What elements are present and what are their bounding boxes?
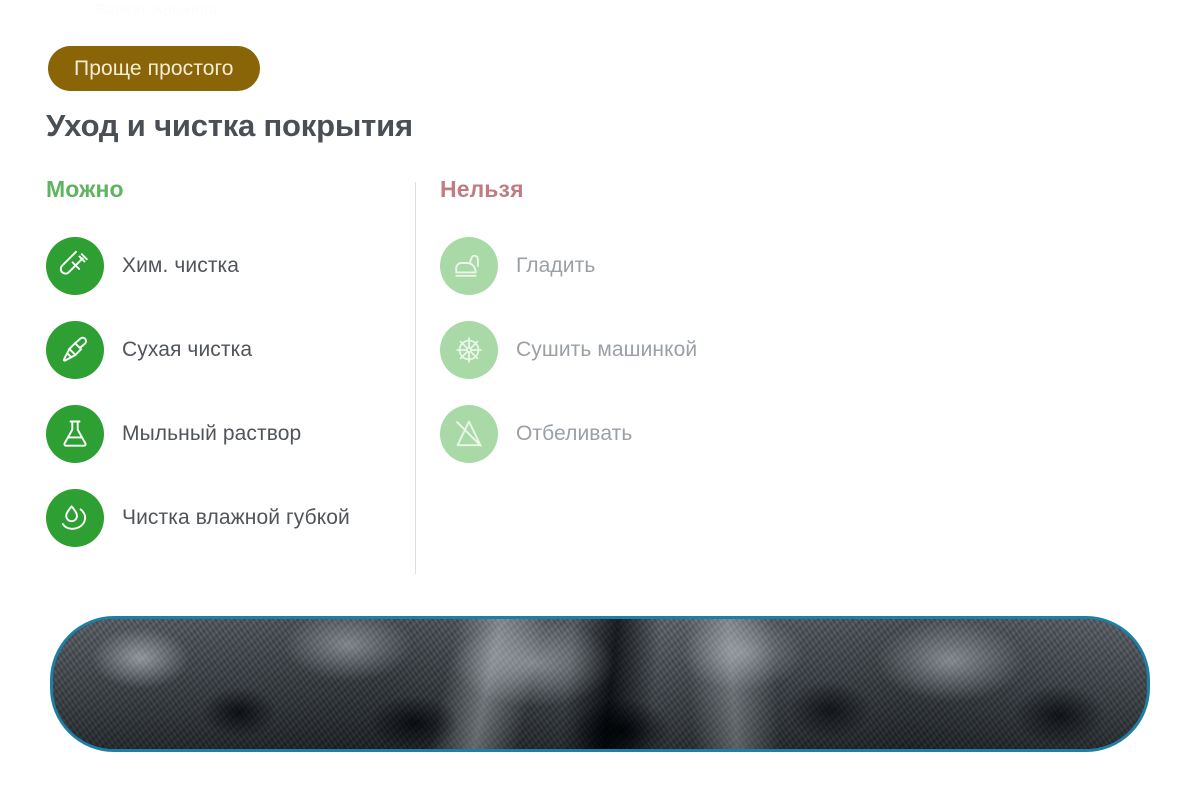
no-bleach-icon: [440, 405, 498, 463]
water-drop-icon: [46, 489, 104, 547]
tumble-dry-icon: [440, 321, 498, 379]
column-divider: [415, 182, 416, 574]
list-item[interactable]: Сушить машинкой: [440, 321, 960, 379]
allowed-list: Хим. чистка Сухая чистка: [46, 237, 406, 547]
list-item-label: Сухая чистка: [122, 336, 252, 364]
list-item[interactable]: Мыльный раствор: [46, 405, 406, 463]
test-tube-icon: [46, 237, 104, 295]
column-forbidden-heading: Нельзя: [440, 176, 960, 203]
iron-icon: [440, 237, 498, 295]
care-card: Проще простого Уход и чистка покрытия Мо…: [0, 0, 1200, 800]
flask-icon: [46, 405, 104, 463]
column-allowed-heading: Можно: [46, 176, 406, 203]
list-item[interactable]: Гладить: [440, 237, 960, 295]
list-item-label: Мыльный раствор: [122, 420, 301, 448]
column-allowed: Можно Хим. чистка: [46, 176, 406, 547]
fabric-swatch-image: [53, 619, 1147, 749]
list-item[interactable]: Чистка влажной губкой: [46, 489, 406, 547]
list-item[interactable]: Сухая чистка: [46, 321, 406, 379]
list-item-label: Гладить: [516, 252, 595, 280]
list-item-label: Сушить машинкой: [516, 336, 697, 364]
list-item[interactable]: Отбеливать: [440, 405, 960, 463]
list-item-label: Чистка влажной губкой: [122, 504, 350, 532]
brush-icon: [46, 321, 104, 379]
list-item[interactable]: Хим. чистка: [46, 237, 406, 295]
list-item-label: Отбеливать: [516, 420, 632, 448]
forbidden-list: Гладить Сушить машинкой: [440, 237, 960, 463]
page-title: Уход и чистка покрытия: [46, 108, 413, 144]
fabric-swatch[interactable]: [50, 616, 1150, 752]
difficulty-badge: Проще простого: [48, 46, 260, 91]
list-item-label: Хим. чистка: [122, 252, 239, 280]
column-forbidden: Нельзя Гладить: [440, 176, 960, 463]
